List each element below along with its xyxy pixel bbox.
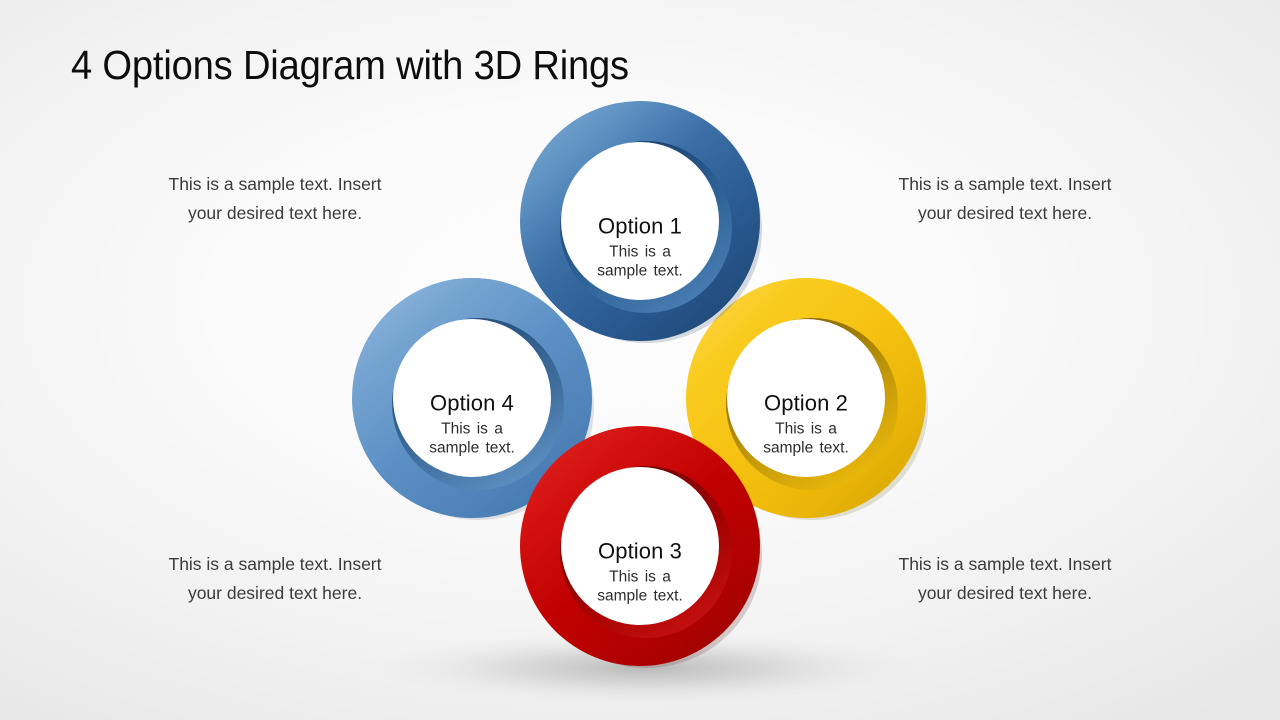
- ring-option-3[interactable]: [520, 426, 762, 668]
- ring-diagram-svg: [0, 0, 1280, 720]
- caption-top-right: This is a sample text. Insert your desir…: [840, 170, 1170, 229]
- caption-top-left: This is a sample text. Insert your desir…: [110, 170, 440, 229]
- slide-canvas: 4 Options Diagram with 3D Rings: [0, 0, 1280, 720]
- caption-bottom-left: This is a sample text. Insert your desir…: [110, 550, 440, 609]
- caption-top-right-line1: This is a sample text. Insert: [899, 174, 1112, 194]
- caption-bottom-right-line2: your desired text here.: [918, 583, 1092, 603]
- caption-top-left-line1: This is a sample text. Insert: [169, 174, 382, 194]
- ring-option-1[interactable]: [520, 101, 762, 343]
- ring-diagram: Option 1 This is a sample text. Option 2…: [0, 0, 1280, 720]
- caption-bottom-left-line1: This is a sample text. Insert: [169, 554, 382, 574]
- caption-bottom-right: This is a sample text. Insert your desir…: [840, 550, 1170, 609]
- caption-bottom-left-line2: your desired text here.: [188, 583, 362, 603]
- caption-top-left-line2: your desired text here.: [188, 203, 362, 223]
- caption-bottom-right-line1: This is a sample text. Insert: [899, 554, 1112, 574]
- caption-top-right-line2: your desired text here.: [918, 203, 1092, 223]
